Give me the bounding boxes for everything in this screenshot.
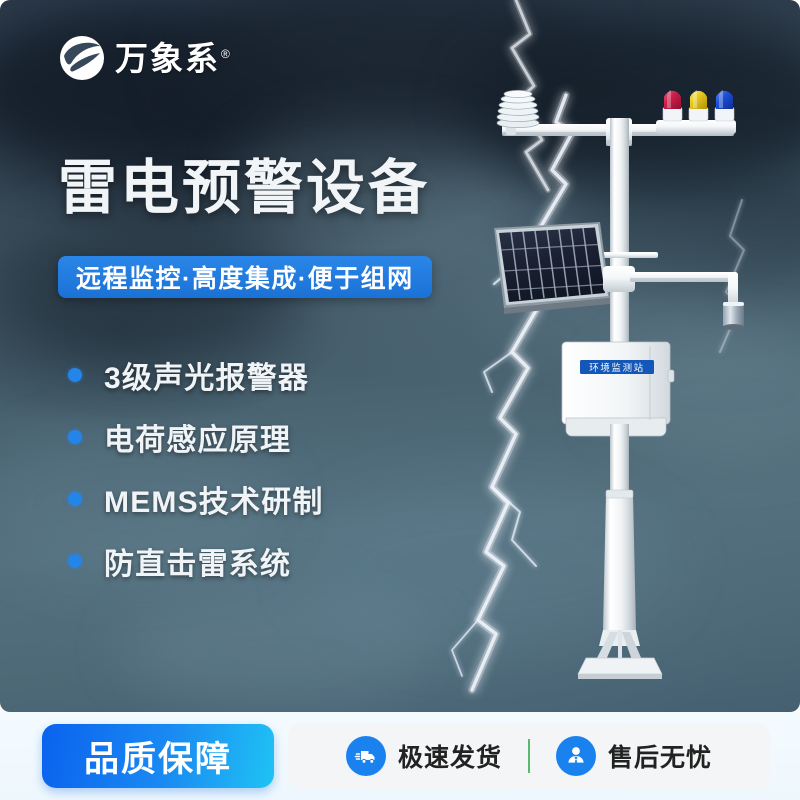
alarm-light-red xyxy=(663,90,682,121)
feature-label: 3级声光报警器 xyxy=(104,353,309,397)
feature-item: 3级声光报警器 xyxy=(68,344,324,406)
poster-root: 环境监测站 xyxy=(0,0,800,800)
banner-feature-label: 极速发货 xyxy=(398,738,502,774)
brand-name: 万象系 xyxy=(115,40,220,77)
quality-guarantee-badge: 品质保障 xyxy=(42,724,274,788)
registered-trademark-icon: ® xyxy=(221,47,232,61)
wanxiangxi-swirl-logo-icon xyxy=(58,34,106,82)
blue-dot-icon xyxy=(68,368,82,382)
banner-feature-aftersales: 售后无忧 xyxy=(536,736,732,776)
feature-item: MEMS技术研制 xyxy=(68,468,324,530)
feature-label: 电荷感应原理 xyxy=(104,415,291,459)
subtitle-pill: 远程监控·高度集成·便于组网 xyxy=(58,256,432,298)
brand-name-wrap: 万象系® xyxy=(115,42,232,75)
downward-sensor xyxy=(723,302,744,330)
banner-divider xyxy=(528,739,530,773)
lightning-warning-weather-station: 环境监测站 xyxy=(440,70,800,710)
base-flange xyxy=(578,630,662,679)
brand-logo: 万象系® xyxy=(58,34,232,82)
quality-guarantee-label: 品质保障 xyxy=(84,731,232,782)
blue-dot-icon xyxy=(68,492,82,506)
delivery-truck-icon xyxy=(346,736,386,776)
trust-banner: 品质保障 极速发货 xyxy=(0,712,800,800)
feature-item: 防直击雷系统 xyxy=(68,530,324,592)
page-title: 雷电预警设备 xyxy=(58,158,430,220)
blue-dot-icon xyxy=(68,430,82,444)
feature-label: MEMS技术研制 xyxy=(104,477,324,521)
alarm-light-yellow xyxy=(689,90,708,121)
feature-label: 防直击雷系统 xyxy=(104,539,291,583)
feature-list: 3级声光报警器 电荷感应原理 MEMS技术研制 防直击雷系统 xyxy=(68,344,324,592)
blue-dot-icon xyxy=(68,554,82,568)
banner-feature-label: 售后无忧 xyxy=(608,738,712,774)
customer-service-person-icon xyxy=(556,736,596,776)
alarm-light-blue xyxy=(715,90,734,121)
controller-enclosure: 环境监测站 xyxy=(562,342,674,436)
subtitle-text: 远程监控·高度集成·便于组网 xyxy=(76,259,414,295)
enclosure-label: 环境监测站 xyxy=(589,362,645,374)
storm-sky-background: 环境监测站 xyxy=(0,0,800,712)
feature-item: 电荷感应原理 xyxy=(68,406,324,468)
banner-feature-shipping: 极速发货 xyxy=(326,736,522,776)
banner-feature-group: 极速发货 售后无忧 xyxy=(288,723,770,789)
